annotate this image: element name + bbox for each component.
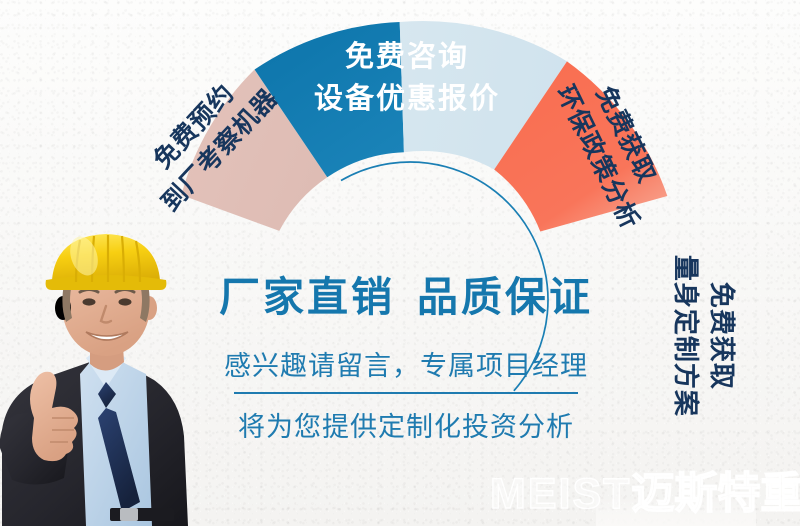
headline-left: 厂家直销 [219, 274, 395, 320]
orange-fade-overlay [596, 452, 756, 526]
businessman-figure [0, 222, 224, 526]
center-message-block: 厂家直销品质保证 感兴趣请留言，专属项目经理 将为您提供定制化投资分析 [196, 275, 616, 444]
headline-right: 品质保证 [417, 274, 593, 320]
eye-left [83, 298, 96, 305]
headline: 厂家直销品质保证 [196, 275, 616, 320]
center-divider [234, 392, 578, 394]
promo-banner: 免费预约 到厂考察机器 免费咨询 设备优惠报价 免费获取 环保政策分析 免费获取… [0, 0, 800, 526]
eye-right [119, 298, 132, 305]
belt [110, 508, 174, 521]
subline-secondary: 将为您提供定制化投资分析 [196, 405, 616, 444]
belt-buckle [120, 508, 138, 521]
subline-primary: 感兴趣请留言，专属项目经理 [196, 344, 616, 383]
